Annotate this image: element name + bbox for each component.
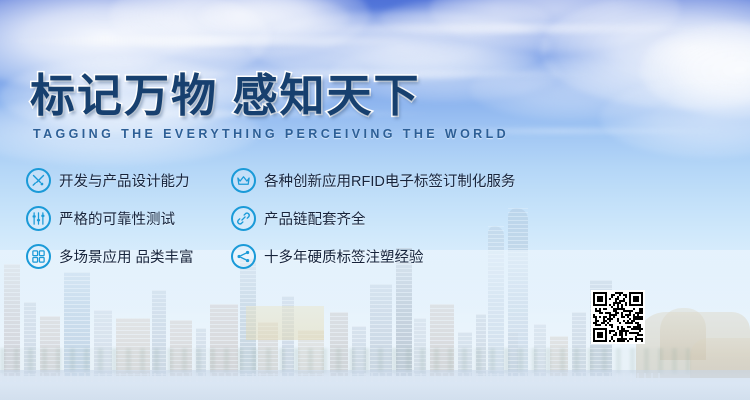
qr-code[interactable] (591, 290, 645, 344)
feature-item-rfid-service: 各种创新应用RFID电子标签订制化服务 (231, 168, 515, 193)
share-icon (231, 244, 256, 269)
link-icon (231, 206, 256, 231)
feature-item-development: 开发与产品设计能力 (26, 168, 231, 193)
feature-item-molding-experience: 十多年硬质标签注塑经验 (231, 244, 424, 269)
feature-row: 多场景应用 品类丰富 十多年硬质标签注塑经验 (26, 244, 626, 282)
tools-icon (26, 168, 51, 193)
page-title: 标记万物 感知天下 (30, 70, 509, 122)
feature-row: 开发与产品设计能力 各种创新应用RFID电子标签订制化服务 (26, 168, 626, 206)
feature-label: 严格的可靠性测试 (59, 208, 175, 229)
feature-item-multi-scenario: 多场景应用 品类丰富 (26, 244, 231, 269)
feature-label: 多场景应用 品类丰富 (59, 246, 194, 267)
feature-label: 开发与产品设计能力 (59, 170, 190, 191)
headline-block: 标记万物 感知天下 TAGGING THE EVERYTHING PERCEIV… (30, 70, 509, 141)
promo-banner: 标记万物 感知天下 TAGGING THE EVERYTHING PERCEIV… (0, 0, 750, 400)
feature-label: 十多年硬质标签注塑经验 (264, 246, 424, 267)
feature-label: 各种创新应用RFID电子标签订制化服务 (264, 170, 515, 191)
feature-list: 开发与产品设计能力 各种创新应用RFID电子标签订制化服务 (26, 168, 626, 282)
feature-label: 产品链配套齐全 (264, 208, 366, 229)
feature-item-product-chain: 产品链配套齐全 (231, 206, 366, 231)
sliders-icon (26, 206, 51, 231)
grid-icon (26, 244, 51, 269)
feature-row: 严格的可靠性测试 产品链配套齐全 (26, 206, 626, 244)
feature-item-reliability-test: 严格的可靠性测试 (26, 206, 231, 231)
crown-icon (231, 168, 256, 193)
page-subtitle: TAGGING THE EVERYTHING PERCEIVING THE WO… (33, 127, 509, 141)
